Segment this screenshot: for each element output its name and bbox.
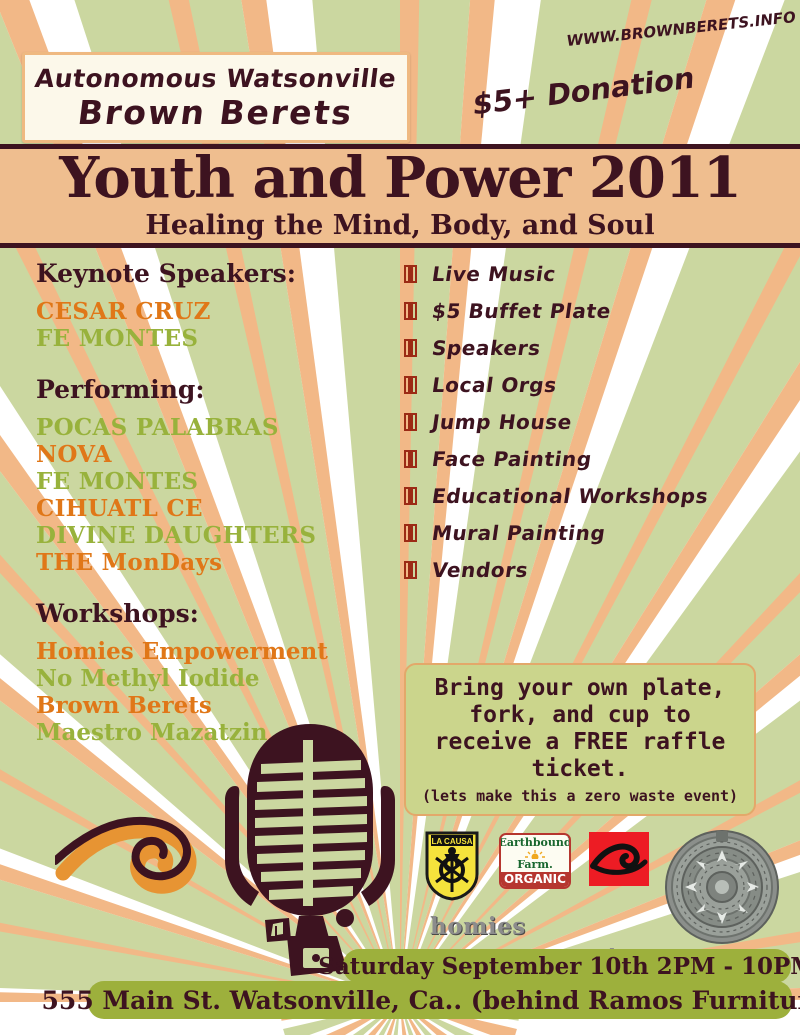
event-subtitle: Healing the Mind, Body, and Soul xyxy=(145,210,654,242)
feature-label: Mural Painting xyxy=(430,521,607,546)
perf-item: THE MonDays xyxy=(36,549,386,576)
microphone-illustration xyxy=(195,720,425,980)
aztec-bullet-icon xyxy=(404,339,421,361)
feature-label: Educational Workshops xyxy=(430,484,710,509)
keynote-item: CESAR CRUZ xyxy=(36,298,386,325)
feature-item: Live Music xyxy=(404,262,784,287)
red-swirl-icon xyxy=(589,832,649,886)
perf-item: POCAS PALABRAS xyxy=(36,414,386,441)
feature-item: Speakers xyxy=(404,336,784,361)
feature-item: Educational Workshops xyxy=(404,484,784,509)
aztec-calendar-stone xyxy=(663,828,781,946)
performing-heading: Performing: xyxy=(36,374,386,405)
event-datetime-pill: Saturday September 10th 2PM - 10PM xyxy=(343,949,791,983)
feature-label: $5 Buffet Plate xyxy=(430,299,612,324)
aztec-bullet-icon xyxy=(404,376,421,398)
aztec-bullet-icon xyxy=(404,450,421,472)
org-logo-box: Autonomous Watsonville Brown Berets xyxy=(22,52,410,143)
aztec-bullet-icon xyxy=(404,265,421,287)
ws-item: No Methyl Iodide xyxy=(36,665,386,692)
feature-item: Face Painting xyxy=(404,447,784,472)
feature-item: Local Orgs xyxy=(404,373,784,398)
aztec-bullet-icon xyxy=(404,302,421,324)
event-title: Youth and Power 2011 xyxy=(59,150,741,206)
feature-label: Vendors xyxy=(430,558,530,583)
feature-item: Jump House xyxy=(404,410,784,435)
org-name-line2: Brown Berets xyxy=(76,94,356,132)
perf-item: FE MONTES xyxy=(36,468,386,495)
title-banner: Youth and Power 2011 Healing the Mind, B… xyxy=(0,144,800,248)
features-list: Live Music$5 Buffet PlateSpeakersLocal O… xyxy=(404,262,784,595)
workshops-heading: Workshops: xyxy=(36,598,386,629)
aztec-bullet-icon xyxy=(404,487,421,509)
perf-item: DIVINE DAUGHTERS xyxy=(36,522,386,549)
plate-notice-sub: (lets make this a zero waste event) xyxy=(414,787,746,806)
ws-item: Brown Berets xyxy=(36,692,386,719)
la-causa-logo: LA CAUSA xyxy=(424,830,480,902)
feature-item: Vendors xyxy=(404,558,784,583)
plate-notice-box: Bring your own plate, fork, and cup to r… xyxy=(404,663,756,816)
plate-notice-main: Bring your own plate, fork, and cup to r… xyxy=(414,675,746,783)
earthbound-line1: Earthbound xyxy=(499,837,571,849)
flyer-poster: Autonomous Watsonville Brown Berets WWW.… xyxy=(0,0,800,1035)
la-causa-label: LA CAUSA xyxy=(431,837,472,846)
aztec-bullet-icon xyxy=(404,561,421,583)
perf-item: NOVA xyxy=(36,441,386,468)
ws-item: Homies Empowerment xyxy=(36,638,386,665)
feature-label: Speakers xyxy=(430,336,542,361)
aztec-bullet-icon xyxy=(404,413,421,435)
feature-item: Mural Painting xyxy=(404,521,784,546)
swirl-ornament-icon xyxy=(55,795,215,905)
earthbound-line2: Farm. xyxy=(517,859,553,871)
performer-list: POCAS PALABRASNOVAFE MONTESCIHUATL CEDIV… xyxy=(36,414,386,576)
org-name-line1: Autonomous Watsonville xyxy=(34,64,399,94)
homies-empowerment-logo: homies empowerment xyxy=(430,912,650,942)
aztec-bullet-icon xyxy=(404,524,421,546)
keynote-heading: Keynote Speakers: xyxy=(36,258,386,289)
feature-item: $5 Buffet Plate xyxy=(404,299,784,324)
feature-label: Jump House xyxy=(430,410,573,435)
event-address-pill: 555 Main St. Watsonville, Ca.. (behind R… xyxy=(88,981,792,1019)
lineup-column: Keynote Speakers: CESAR CRUZFE MONTES Pe… xyxy=(36,258,386,768)
earthbound-farm-logo: Earthbound Farm. ORGANIC xyxy=(499,833,571,889)
feature-label: Face Painting xyxy=(430,447,593,472)
perf-item: CIHUATL CE xyxy=(36,495,386,522)
earthbound-organic-band: ORGANIC xyxy=(501,872,569,887)
keynote-item: FE MONTES xyxy=(36,325,386,352)
feature-label: Local Orgs xyxy=(430,373,558,398)
feature-label: Live Music xyxy=(430,262,557,287)
keynote-speaker-list: CESAR CRUZFE MONTES xyxy=(36,298,386,352)
red-swirl-logo xyxy=(589,832,649,886)
